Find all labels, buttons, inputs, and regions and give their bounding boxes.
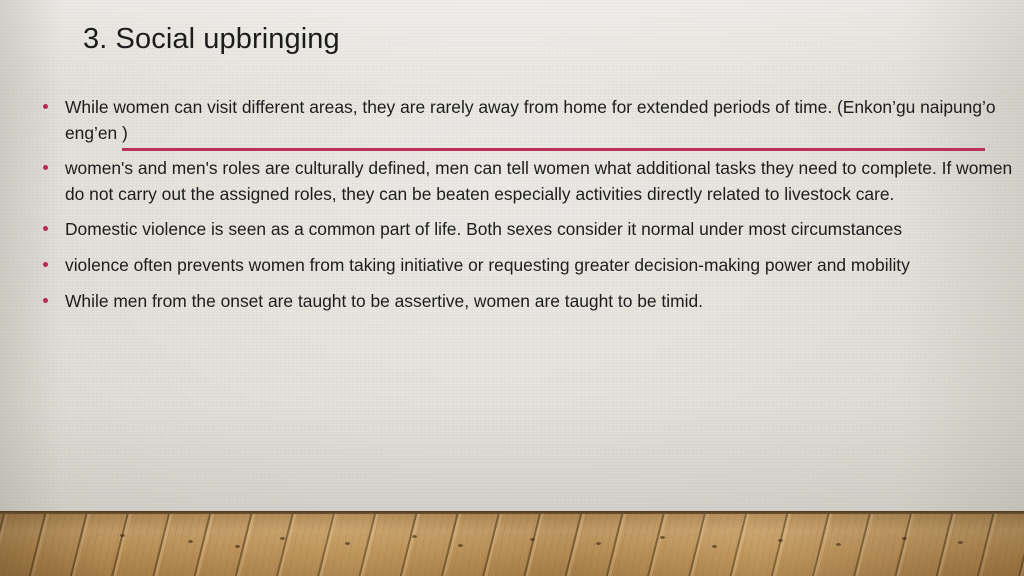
slide-canvas: 3. Social upbringing While women can vis…: [0, 0, 1024, 576]
wooden-floor-band: [0, 511, 1024, 576]
wood-knot: [280, 537, 285, 540]
wood-knot: [530, 538, 535, 541]
wood-knot: [412, 535, 417, 538]
list-item-text: Domestic violence is seen as a common pa…: [65, 217, 1015, 243]
bullet-dot-icon: [43, 165, 48, 170]
list-item-text: violence often prevents women from takin…: [65, 253, 1015, 279]
page-title: 3. Social upbringing: [83, 22, 340, 56]
list-item: While men from the onset are taught to b…: [40, 289, 1015, 315]
wood-knot: [958, 541, 963, 544]
floor-wood-grain: [0, 511, 1024, 576]
wood-knot: [712, 545, 717, 548]
wood-knot: [458, 544, 463, 547]
bullet-dot-icon: [43, 226, 48, 231]
list-item: violence often prevents women from takin…: [40, 253, 1015, 279]
list-item: Domestic violence is seen as a common pa…: [40, 217, 1015, 243]
wood-knot: [778, 539, 783, 542]
list-item-text: While women can visit different areas, t…: [65, 95, 1015, 146]
wood-knot: [345, 542, 350, 545]
bullet-dot-icon: [43, 262, 48, 267]
wood-knot: [596, 542, 601, 545]
wood-knot: [235, 545, 240, 548]
floor-wall-junction: [0, 511, 1024, 514]
list-item: While women can visit different areas, t…: [40, 95, 1015, 146]
wood-knot: [660, 536, 665, 539]
list-item-text: While men from the onset are taught to b…: [65, 289, 1015, 315]
list-item-text: women's and men's roles are culturally d…: [65, 156, 1015, 207]
wood-knot: [188, 540, 193, 543]
bullet-dot-icon: [43, 298, 48, 303]
bullet-list: While women can visit different areas, t…: [40, 95, 1015, 314]
list-item: women's and men's roles are culturally d…: [40, 156, 1015, 207]
wood-knot: [120, 534, 125, 537]
wood-knot: [836, 543, 841, 546]
wood-knot: [902, 537, 907, 540]
bullet-dot-icon: [43, 104, 48, 109]
